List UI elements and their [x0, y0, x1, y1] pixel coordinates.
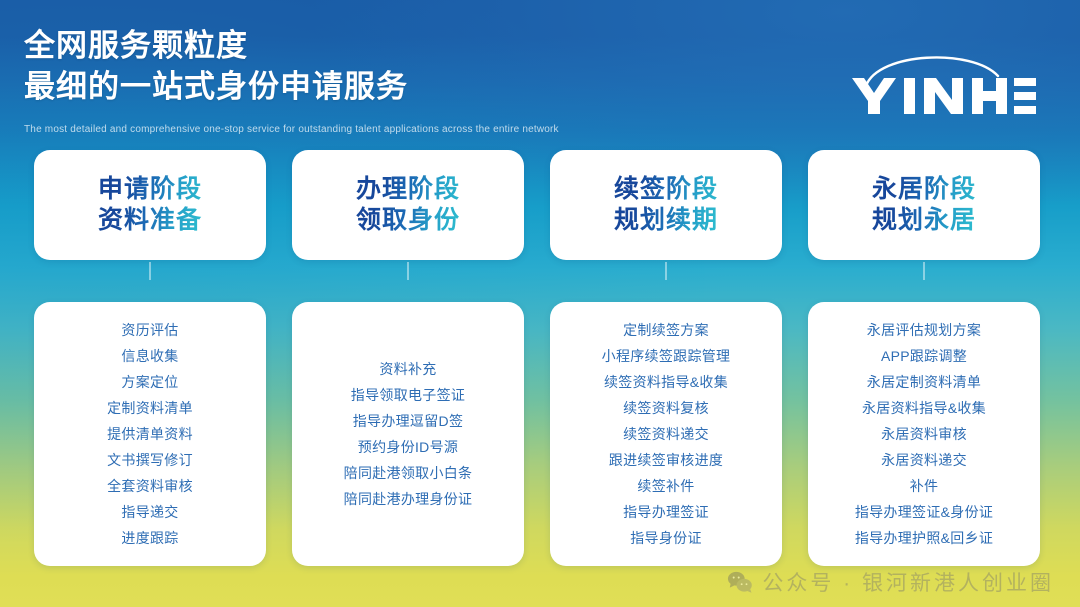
stage-column-1: 申请阶段 资料准备 资历评估 信息收集 方案定位 定制资料清单 提供清单资料 文… [34, 150, 266, 260]
list-item: 资历评估 [121, 317, 178, 343]
stage-body-card-4: 永居评估规划方案 APP跟踪调整 永居定制资料清单 永居资料指导&收集 永居资料… [808, 302, 1040, 566]
list-item: 指导办理逗留D签 [353, 408, 464, 434]
list-item: 指导办理签证 [623, 499, 709, 525]
list-item: 小程序续签跟踪管理 [602, 343, 731, 369]
stage-body-card-1: 资历评估 信息收集 方案定位 定制资料清单 提供清单资料 文书撰写修订 全套资料… [34, 302, 266, 566]
list-item: 定制续签方案 [623, 317, 709, 343]
page-subtitle: The most detailed and comprehensive one-… [24, 124, 559, 135]
list-item: 方案定位 [121, 369, 178, 395]
stage-heading-4: 永居阶段 规划永居 [872, 174, 976, 237]
list-item: 永居资料审核 [881, 421, 967, 447]
list-item: 指导领取电子签证 [351, 382, 465, 408]
stage-column-2: 办理阶段 领取身份 资料补充 指导领取电子签证 指导办理逗留D签 预约身份ID号… [292, 150, 524, 260]
yinhe-logo [848, 48, 1038, 118]
list-item: 永居资料递交 [881, 447, 967, 473]
list-item: 定制资料清单 [107, 395, 193, 421]
list-item: 续签资料递交 [623, 421, 709, 447]
list-item: 提供清单资料 [107, 421, 193, 447]
stage-header-card-4[interactable]: 永居阶段 规划永居 [808, 150, 1040, 260]
list-item: 指导身份证 [630, 525, 702, 551]
list-item: 预约身份ID号源 [358, 434, 458, 460]
list-item: 永居资料指导&收集 [862, 395, 986, 421]
stage-body-card-2: 资料补充 指导领取电子签证 指导办理逗留D签 预约身份ID号源 陪同赴港领取小白… [292, 302, 524, 566]
stage-heading-1: 申请阶段 资料准备 [98, 174, 202, 237]
stage-header-card-3[interactable]: 续签阶段 规划续期 [550, 150, 782, 260]
stage-column-3: 续签阶段 规划续期 定制续签方案 小程序续签跟踪管理 续签资料指导&收集 续签资… [550, 150, 782, 260]
connector-line-4 [923, 262, 925, 280]
list-item: 陪同赴港领取小白条 [344, 460, 473, 486]
list-item: 信息收集 [121, 343, 178, 369]
stage-body-card-3: 定制续签方案 小程序续签跟踪管理 续签资料指导&收集 续签资料复核 续签资料递交… [550, 302, 782, 566]
stage-column-4: 永居阶段 规划永居 永居评估规划方案 APP跟踪调整 永居定制资料清单 永居资料… [808, 150, 1040, 260]
stage-heading-2: 办理阶段 领取身份 [356, 174, 460, 237]
connector-line-1 [149, 262, 151, 280]
page-header: 全网服务颗粒度 最细的一站式身份申请服务 The most detailed a… [0, 0, 1080, 150]
connector-line-3 [665, 262, 667, 280]
list-item: 永居定制资料清单 [867, 369, 981, 395]
list-item: 补件 [910, 473, 939, 499]
list-item: 资料补充 [379, 356, 436, 382]
list-item: 指导递交 [121, 499, 178, 525]
list-item: 续签资料复核 [623, 395, 709, 421]
list-item: 跟进续签审核进度 [609, 447, 723, 473]
list-item: 文书撰写修订 [107, 447, 193, 473]
list-item: 指导办理护照&回乡证 [855, 525, 993, 551]
list-item: 续签补件 [637, 473, 694, 499]
list-item: 全套资料审核 [107, 473, 193, 499]
list-item: 指导办理签证&身份证 [855, 499, 993, 525]
stage-header-card-2[interactable]: 办理阶段 领取身份 [292, 150, 524, 260]
list-item: 永居评估规划方案 [867, 317, 981, 343]
list-item: APP跟踪调整 [881, 343, 967, 369]
page-title: 全网服务颗粒度 最细的一站式身份申请服务 [24, 26, 408, 108]
connector-line-2 [407, 262, 409, 280]
list-item: 进度跟踪 [121, 525, 178, 551]
stage-columns: 申请阶段 资料准备 资历评估 信息收集 方案定位 定制资料清单 提供清单资料 文… [0, 150, 1080, 607]
stage-header-card-1[interactable]: 申请阶段 资料准备 [34, 150, 266, 260]
list-item: 陪同赴港办理身份证 [344, 486, 473, 512]
list-item: 续签资料指导&收集 [604, 369, 728, 395]
stage-heading-3: 续签阶段 规划续期 [614, 174, 718, 237]
